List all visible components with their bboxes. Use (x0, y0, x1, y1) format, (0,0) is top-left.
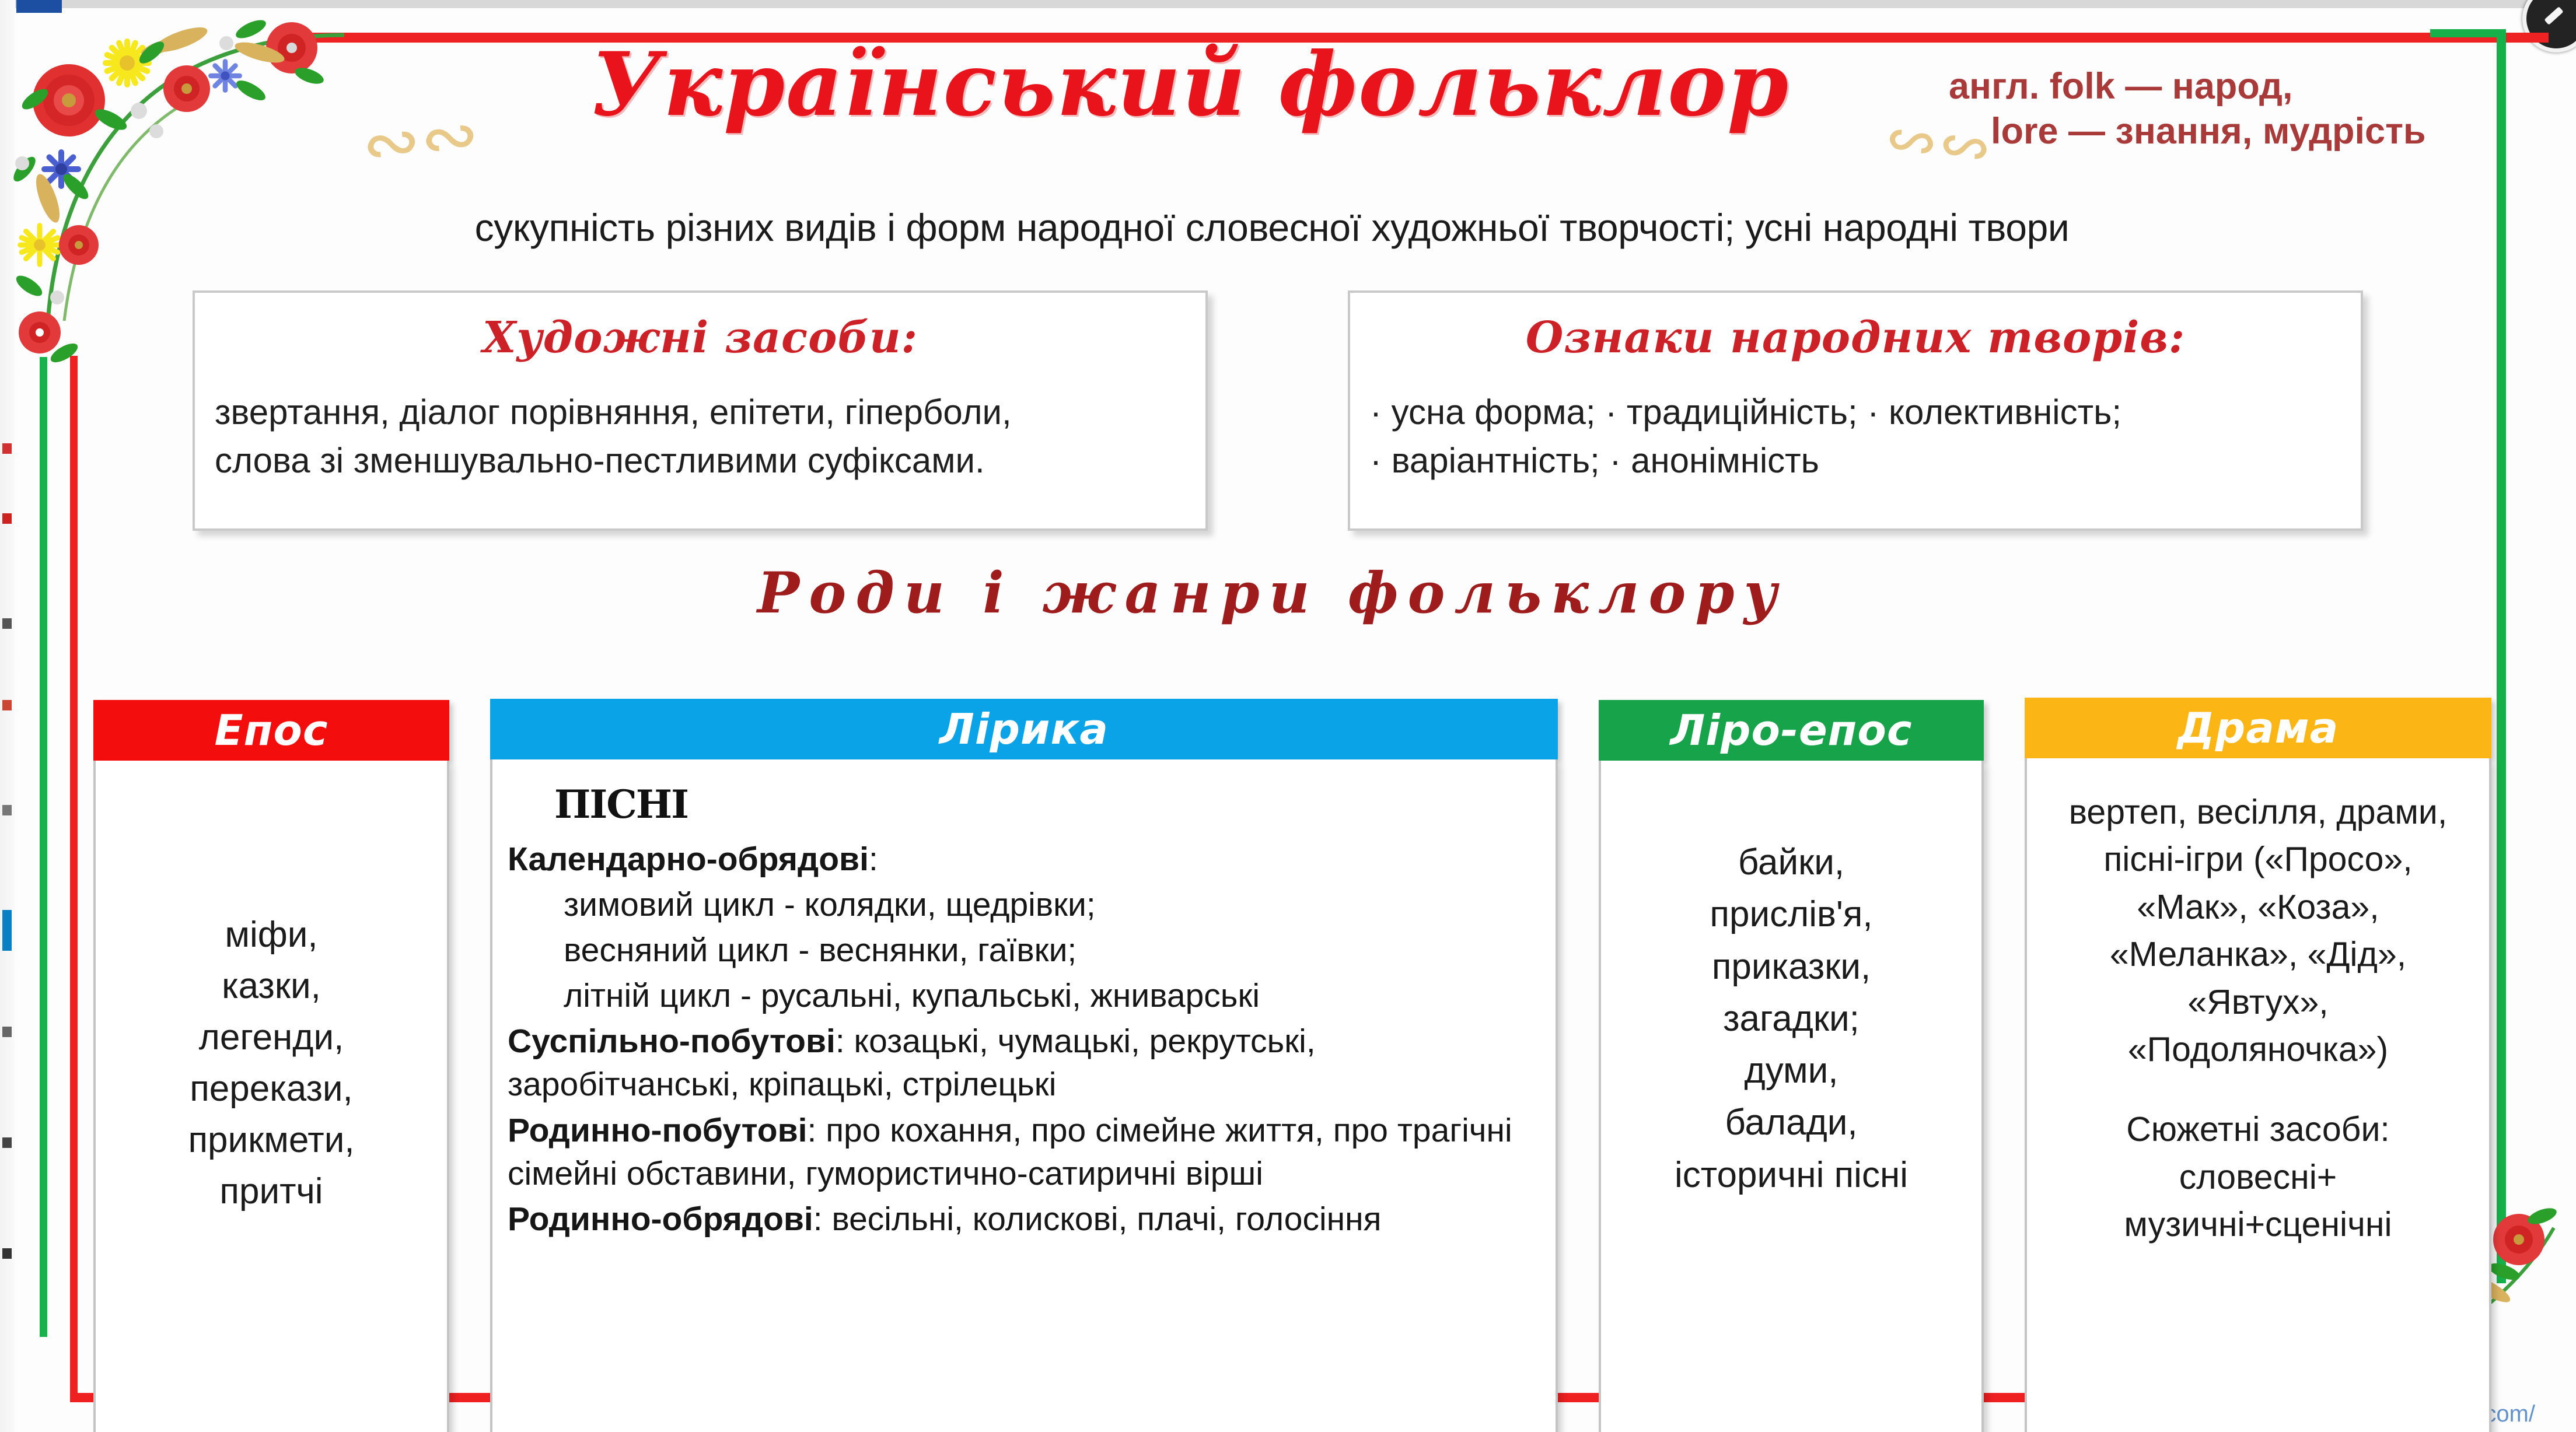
column-epos: Епос міфи,казки,легенди,перекази,прикмет… (93, 700, 449, 1432)
list-item: прислів'я, (1601, 888, 1981, 940)
slide-canvas: http://svitliteraturu.com/ ∾∾ ∾∾ Українс… (0, 0, 2576, 1432)
list-item: «Явтух», (2040, 979, 2476, 1026)
folk-features-heading: Ознаки народних творів: (1350, 313, 2361, 363)
artistic-devices-line-1: звертання, діалог порівняння, епітети, г… (215, 388, 1186, 437)
frame-line-green-top (2430, 29, 2506, 37)
liryka-sub-item: зимовий цикл - колядки, щедрівки; (508, 883, 1540, 926)
liryka-sub-item: весняний цикл - веснянки, гаївки; (508, 929, 1540, 972)
list-item: притчі (96, 1166, 447, 1217)
frame-line-green-right (2497, 29, 2506, 1283)
liryka-group-label: Календарно-обрядові (508, 841, 869, 878)
column-epos-body: міфи,казки,легенди,перекази,прикмети,при… (93, 761, 449, 1432)
folk-features-box: Ознаки народних творів: · усна форма; · … (1348, 290, 2363, 531)
list-item: казки, (96, 961, 447, 1012)
pisni-subtitle: ПІСНІ (554, 782, 1540, 827)
liryka-group-item: Календарно-обрядові: (508, 838, 1540, 881)
list-item: прикмети, (96, 1115, 447, 1166)
list-item: «Меланка», «Дід», (2040, 931, 2476, 978)
list-item: легенди, (96, 1012, 447, 1063)
column-liryka-header: Лірика (490, 699, 1558, 759)
list-item: байки, (1601, 836, 1981, 888)
list-item: «Мак», «Коза», (2040, 884, 2476, 931)
column-drama-header: Драма (2025, 698, 2491, 758)
list-item: приказки, (1601, 941, 1981, 993)
list-item: історичні пісні (1601, 1149, 1981, 1201)
slide-thumbnail-strip[interactable] (0, 0, 15, 1432)
column-liro-epos-header: Ліро-епос (1599, 700, 1984, 761)
list-item: «Подоляночка») (2040, 1026, 2476, 1073)
folk-features-line-2: · варіантність; · анонімність (1370, 437, 2341, 485)
genres-section-heading: Роди і жанри фольклору (76, 560, 2468, 626)
list-item: пісні-ігри («Просо», (2040, 836, 2476, 883)
column-liro-epos-body: байки,прислів'я,приказки,загадки;думи,ба… (1599, 761, 1984, 1432)
column-liryka-body: ПІСНІ Календарно-обрядові:зимовий цикл -… (490, 759, 1558, 1432)
list-item: перекази, (96, 1063, 447, 1115)
liryka-group-item: Родинно-побутові: про кохання, про сімей… (508, 1109, 1540, 1195)
liryka-group-label: Суспільно-побутові (508, 1023, 836, 1060)
list-item: Сюжетні засоби: (2040, 1106, 2476, 1153)
list-item: музичні+сценічні (2040, 1201, 2476, 1248)
list-item: балади, (1601, 1097, 1981, 1149)
liryka-sub-item: літній цикл - русальні, купальські, жнив… (508, 974, 1540, 1017)
cursor-badge-icon (2522, 0, 2576, 52)
list-item: міфи, (96, 909, 447, 961)
folklore-definition: сукупність різних видів і форм народної … (76, 205, 2468, 250)
artistic-devices-body: звертання, діалог порівняння, епітети, г… (215, 388, 1186, 485)
liryka-group-item: Суспільно-побутові: козацькі, чумацькі, … (508, 1020, 1540, 1106)
column-drama: Драма вертеп, весілля, драми,пісні-ігри … (2025, 698, 2491, 1432)
list-item: вертеп, весілля, драми, (2040, 789, 2476, 836)
liryka-group-label: Родинно-побутові (508, 1112, 808, 1149)
frame-line-red-left (70, 356, 78, 1400)
etymology-line-2: lore — знання, мудрість (1949, 109, 2532, 154)
artistic-devices-line-2: слова зі зменшувально-пестливими суфікса… (215, 437, 1186, 485)
folk-features-body: · усна форма; · традиційність; · колекти… (1370, 388, 2341, 485)
list-item: загадки; (1601, 993, 1981, 1045)
page-title: Український фольклор (443, 41, 1937, 128)
window-tab-indicator[interactable] (16, 0, 62, 13)
artistic-devices-heading: Художні засоби: (195, 313, 1205, 363)
column-epos-header: Епос (93, 700, 449, 761)
folk-features-line-1: · усна форма; · традиційність; · колекти… (1370, 388, 2341, 437)
column-liro-epos: Ліро-епос байки,прислів'я,приказки,загад… (1599, 700, 1984, 1432)
column-liro-epos-items: байки,прислів'я,приказки,загадки;думи,ба… (1601, 761, 1981, 1201)
liryka-group-list: Календарно-обрядові:зимовий цикл - коляд… (508, 838, 1540, 1241)
frame-line-green-left (40, 357, 47, 1337)
liryka-group-item: Родинно-обрядові: весільні, колискові, п… (508, 1198, 1540, 1241)
artistic-devices-box: Художні засоби: звертання, діалог порівн… (193, 290, 1208, 531)
column-drama-body: вертеп, весілля, драми,пісні-ігри («Прос… (2025, 758, 2491, 1432)
list-item: думи, (1601, 1045, 1981, 1097)
column-epos-items: міфи,казки,легенди,перекази,прикмети,при… (96, 761, 447, 1217)
liryka-group-label: Родинно-обрядові (508, 1200, 813, 1238)
etymology-note: англ. folk — народ, lore — знання, мудрі… (1949, 64, 2532, 154)
column-liryka: Лірика ПІСНІ Календарно-обрядові:зимовий… (490, 699, 1558, 1432)
column-drama-plot-devices: Сюжетні засоби:словесні+музичні+сценічні (2027, 1073, 2489, 1248)
window-titlebar-strip (0, 0, 2576, 8)
list-item: словесні+ (2040, 1154, 2476, 1201)
column-drama-items: вертеп, весілля, драми,пісні-ігри («Прос… (2027, 758, 2489, 1073)
etymology-line-1: англ. folk — народ, (1949, 64, 2532, 109)
